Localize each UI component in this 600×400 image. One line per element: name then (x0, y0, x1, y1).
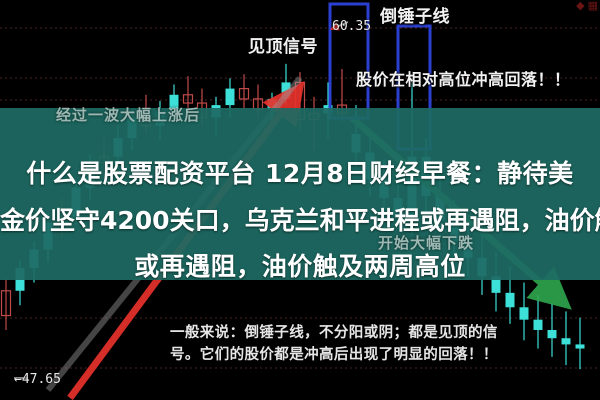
price-label-high: 60.35 (332, 19, 371, 34)
annotation-explanation-line1: 一般来说：倒锤子线，不分阳或阴；都是见顶的信 (170, 322, 590, 344)
corner-widget: ◆ ▦ (576, 1, 598, 12)
panel-icon: ▦ (588, 1, 598, 12)
annotation-top-signal: 见顶信号 (248, 32, 318, 57)
diamond-icon: ◆ (576, 1, 584, 12)
headline-overlay: 什么是股票配资平台 12月8日财经早餐：静待美 金价坚守4200关口，乌克兰和平… (0, 150, 600, 289)
annotation-explanation: 一般来说：倒锤子线，不分阳或阴；都是见顶的信 号。它们的股价都是冲高后出现了明显… (170, 322, 590, 366)
screenshot-root: 见顶信号 倒锤子线 股价在相对高位冲高回落！！ 经过一波大幅上涨后 开始大幅下跌… (0, 0, 600, 400)
annotation-after-rally: 经过一波大幅上涨后 (56, 104, 200, 125)
headline-line-2: 金价坚守4200关口，乌克兰和平进程或再遇阻，油价触 (0, 197, 600, 244)
price-label-low: ←47.65 (14, 372, 61, 387)
headline-line-1: 什么是股票配资平台 12月8日财经早餐：静待美 (0, 150, 600, 197)
annotation-explanation-line2: 号。它们的股价都是冲高后出现了明显的回落！！ (170, 344, 590, 366)
headline-line-3: 或再遇阻，油价触及两周高位 (0, 244, 600, 289)
annotation-high-pullback: 股价在相对高位冲高回落！！ (356, 66, 571, 90)
annotation-inverted-hammer: 倒锤子线 (380, 2, 450, 27)
left-arrow-icon: ← (14, 372, 22, 387)
